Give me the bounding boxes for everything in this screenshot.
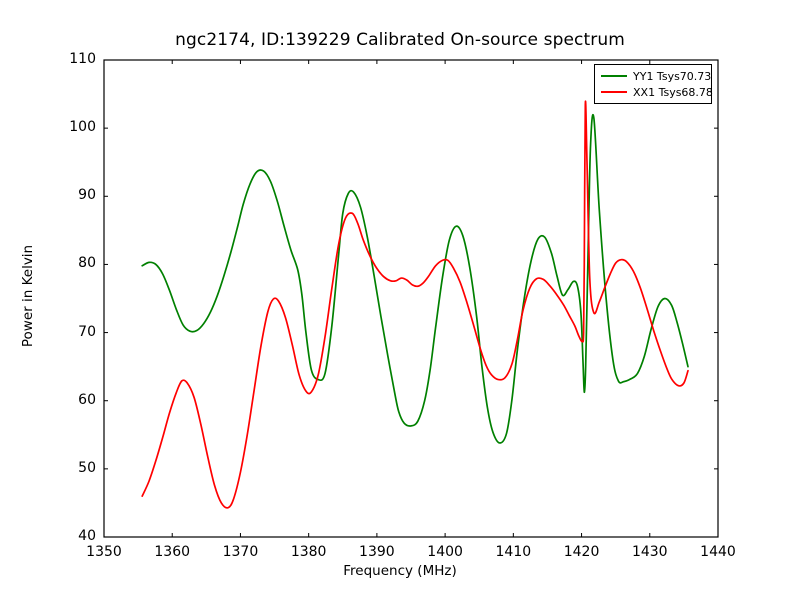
legend-label-yy1: YY1 Tsys70.73 bbox=[633, 70, 711, 83]
legend: YY1 Tsys70.73 XX1 Tsys68.78 bbox=[594, 64, 712, 104]
y-axis-label: Power in Kelvin bbox=[20, 206, 36, 386]
x-axis-tick-label: 1440 bbox=[688, 544, 748, 560]
x-axis-tick-label: 1350 bbox=[74, 544, 134, 560]
legend-swatch-yy1 bbox=[601, 75, 627, 77]
x-axis-tick-label: 1420 bbox=[552, 544, 612, 560]
y-axis-tick-label: 70 bbox=[44, 324, 96, 340]
x-axis-tick-label: 1380 bbox=[279, 544, 339, 560]
x-axis-tick-label: 1400 bbox=[415, 544, 475, 560]
x-axis-tick-label: 1370 bbox=[210, 544, 270, 560]
y-axis-tick-label: 110 bbox=[44, 51, 96, 67]
y-axis-tick-label: 40 bbox=[44, 528, 96, 544]
y-axis-tick-label: 80 bbox=[44, 255, 96, 271]
y-axis-tick-label: 90 bbox=[44, 187, 96, 203]
y-axis-label-wrapper: Power in Kelvin bbox=[0, 0, 40, 600]
legend-swatch-xx1 bbox=[601, 91, 627, 93]
y-axis-tick-label: 60 bbox=[44, 392, 96, 408]
y-axis-tick-label: 100 bbox=[44, 119, 96, 135]
x-axis-tick-label: 1390 bbox=[347, 544, 407, 560]
figure-canvas: ngc2174, ID:139229 Calibrated On-source … bbox=[0, 0, 800, 600]
x-axis-label: Frequency (MHz) bbox=[0, 563, 800, 579]
axes-frame bbox=[104, 60, 718, 537]
legend-label-xx1: XX1 Tsys68.78 bbox=[633, 86, 713, 99]
legend-entry-xx1: XX1 Tsys68.78 bbox=[599, 84, 707, 100]
x-axis-tick-label: 1430 bbox=[620, 544, 680, 560]
y-axis-tick-label: 50 bbox=[44, 460, 96, 476]
x-axis-tick-label: 1360 bbox=[142, 544, 202, 560]
legend-entry-yy1: YY1 Tsys70.73 bbox=[599, 68, 707, 84]
x-axis-tick-label: 1410 bbox=[483, 544, 543, 560]
